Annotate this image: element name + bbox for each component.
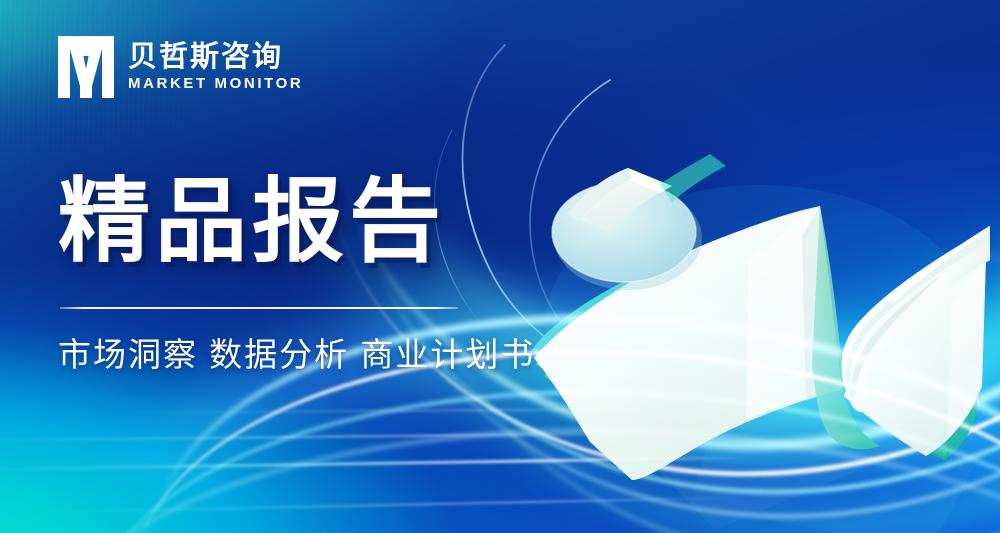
company-name-en: MARKET MONITOR — [128, 76, 303, 93]
title-divider — [60, 307, 458, 309]
page-subtitle: 市场洞察 数据分析 商业计划书 — [58, 334, 535, 375]
logo-text-block: 贝哲斯咨询 MARKET MONITOR — [128, 42, 303, 92]
m-monogram-icon — [58, 36, 114, 98]
report-promo-banner: 贝哲斯咨询 MARKET MONITOR 精品报告 市场洞察 数据分析 商业计划… — [0, 0, 1000, 533]
page-title: 精品报告 — [58, 176, 446, 268]
company-name-cn: 贝哲斯咨询 — [128, 42, 303, 73]
brand-logo[interactable]: 贝哲斯咨询 MARKET MONITOR — [58, 36, 303, 98]
